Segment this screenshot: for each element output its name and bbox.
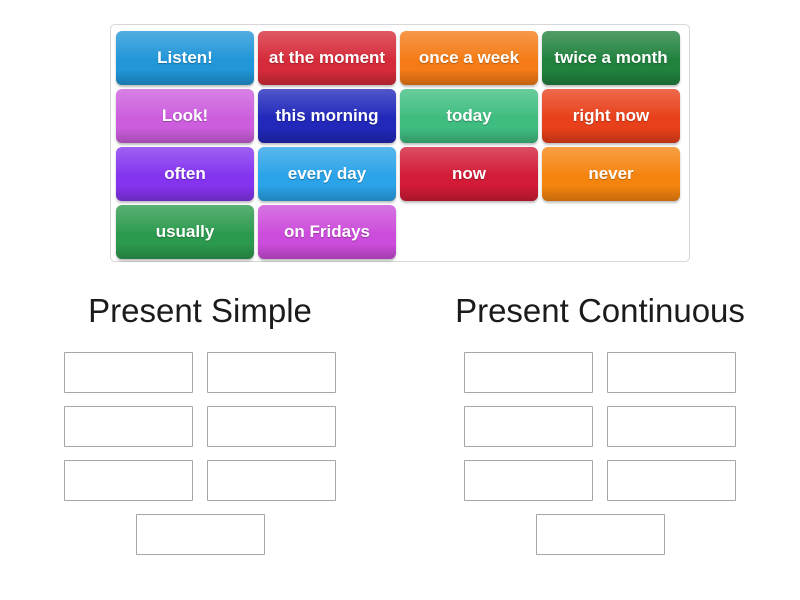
tile-label: Listen! [157, 48, 213, 67]
category-present-simple-dropzone [0, 352, 400, 555]
drop-slot[interactable] [136, 514, 265, 555]
tile-once-a-week[interactable]: once a week [400, 31, 538, 85]
tile-label: often [164, 164, 206, 183]
tile-every-day[interactable]: every day [258, 147, 396, 201]
category-dropzones [0, 352, 800, 555]
drop-slot[interactable] [607, 406, 736, 447]
tile-usually[interactable]: usually [116, 205, 254, 259]
tile-on-fridays[interactable]: on Fridays [258, 205, 396, 259]
tile-label: once a week [419, 48, 519, 67]
tile-often[interactable]: often [116, 147, 254, 201]
tile-label: usually [156, 222, 215, 241]
drop-slot[interactable] [607, 460, 736, 501]
tray-row: Look!this morningtodayright now [116, 89, 684, 143]
category-present-simple-title: Present Simple [88, 292, 312, 330]
tile-label: Look! [162, 106, 208, 125]
tile-never[interactable]: never [542, 147, 680, 201]
tray-row: oftenevery daynownever [116, 147, 684, 201]
tile-label: twice a month [554, 48, 667, 67]
tray-row: usuallyon Fridays [116, 205, 684, 259]
drop-slot[interactable] [536, 514, 665, 555]
tile-label: never [588, 164, 633, 183]
heading-column: Present Simple [0, 292, 400, 330]
tile-label: this morning [276, 106, 379, 125]
drop-slot[interactable] [207, 406, 336, 447]
tile-label: every day [288, 164, 366, 183]
tile-twice-a-month[interactable]: twice a month [542, 31, 680, 85]
tile-label: now [452, 164, 486, 183]
tile-label: at the moment [269, 48, 385, 67]
drop-slot[interactable] [464, 460, 593, 501]
tile-look[interactable]: Look! [116, 89, 254, 143]
drop-slot[interactable] [64, 406, 193, 447]
heading-column: Present Continuous [400, 292, 800, 330]
tile-label: today [446, 106, 491, 125]
drop-slot[interactable] [64, 460, 193, 501]
drop-slot[interactable] [464, 352, 593, 393]
drop-slot[interactable] [464, 406, 593, 447]
drop-slot[interactable] [607, 352, 736, 393]
tile-at-the-moment[interactable]: at the moment [258, 31, 396, 85]
tile-right-now[interactable]: right now [542, 89, 680, 143]
tray-row: Listen!at the momentonce a weektwice a m… [116, 31, 684, 85]
category-present-continuous-dropzone [400, 352, 800, 555]
tile-label: on Fridays [284, 222, 370, 241]
tile-today[interactable]: today [400, 89, 538, 143]
tile-now[interactable]: now [400, 147, 538, 201]
tile-label: right now [573, 106, 649, 125]
category-headings: Present SimplePresent Continuous [0, 292, 800, 330]
word-tile-tray: Listen!at the momentonce a weektwice a m… [110, 24, 690, 262]
category-present-continuous-title: Present Continuous [455, 292, 745, 330]
tile-listen[interactable]: Listen! [116, 31, 254, 85]
drop-slot[interactable] [207, 352, 336, 393]
drop-slot[interactable] [207, 460, 336, 501]
group-sort-activity: Listen!at the momentonce a weektwice a m… [0, 0, 800, 600]
tile-this-morning[interactable]: this morning [258, 89, 396, 143]
drop-slot[interactable] [64, 352, 193, 393]
tray-rows: Listen!at the momentonce a weektwice a m… [116, 31, 684, 259]
